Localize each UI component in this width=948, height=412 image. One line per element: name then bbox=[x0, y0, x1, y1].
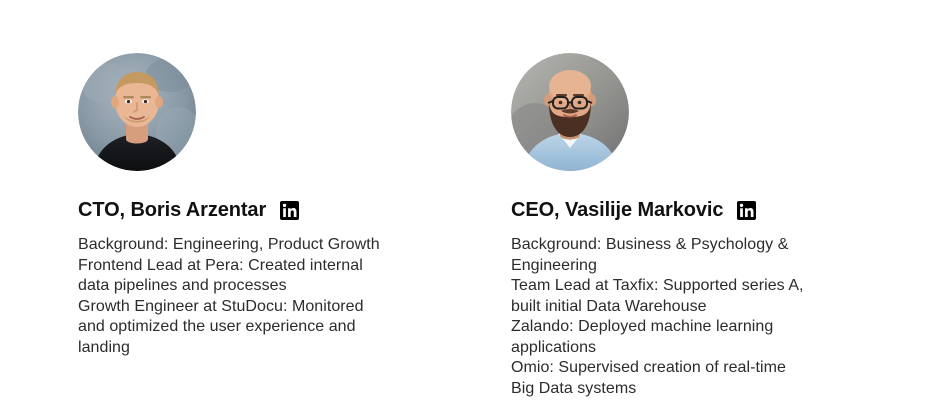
avatar bbox=[78, 53, 196, 171]
bio-line: Growth Engineer at StuDocu: Monitored bbox=[78, 297, 423, 318]
linkedin-icon[interactable] bbox=[737, 201, 756, 220]
profile-name: CTO, Boris Arzentar bbox=[78, 198, 266, 222]
avatar-photo-vasilije bbox=[511, 53, 629, 171]
bio-line: applications bbox=[511, 338, 861, 359]
profile-name-row: CTO, Boris Arzentar bbox=[78, 198, 478, 222]
profile-name: CEO, Vasilije Markovic bbox=[511, 198, 723, 222]
bio-line: and optimized the user experience and bbox=[78, 317, 423, 338]
bio-line: built initial Data Warehouse bbox=[511, 297, 861, 318]
profile-name-row: CEO, Vasilije Markovic bbox=[511, 198, 911, 222]
bio-line: Engineering bbox=[511, 256, 861, 277]
bio-line: Team Lead at Taxfix: Supported series A, bbox=[511, 276, 861, 297]
bio-line: Frontend Lead at Pera: Created internal bbox=[78, 256, 423, 277]
profile-bio: Background: Engineering, Product Growth … bbox=[78, 235, 423, 358]
bio-line: Omio: Supervised creation of real-time bbox=[511, 358, 861, 379]
team-profiles-section: CTO, Boris Arzentar Background: Engineer… bbox=[0, 0, 948, 412]
profile-card-boris-arzentar: CTO, Boris Arzentar Background: Engineer… bbox=[78, 53, 478, 358]
bio-line: landing bbox=[78, 338, 423, 359]
bio-line: Big Data systems bbox=[511, 379, 861, 400]
bio-line: data pipelines and processes bbox=[78, 276, 423, 297]
avatar-photo-boris bbox=[78, 53, 196, 171]
linkedin-icon[interactable] bbox=[280, 201, 299, 220]
bio-line: Background: Engineering, Product Growth bbox=[78, 235, 423, 256]
bio-line: Background: Business & Psychology & bbox=[511, 235, 861, 256]
profile-bio: Background: Business & Psychology & Engi… bbox=[511, 235, 861, 399]
avatar bbox=[511, 53, 629, 171]
profile-card-vasilije-markovic: CEO, Vasilije Markovic Background: Busin… bbox=[511, 53, 911, 399]
bio-line: Zalando: Deployed machine learning bbox=[511, 317, 861, 338]
